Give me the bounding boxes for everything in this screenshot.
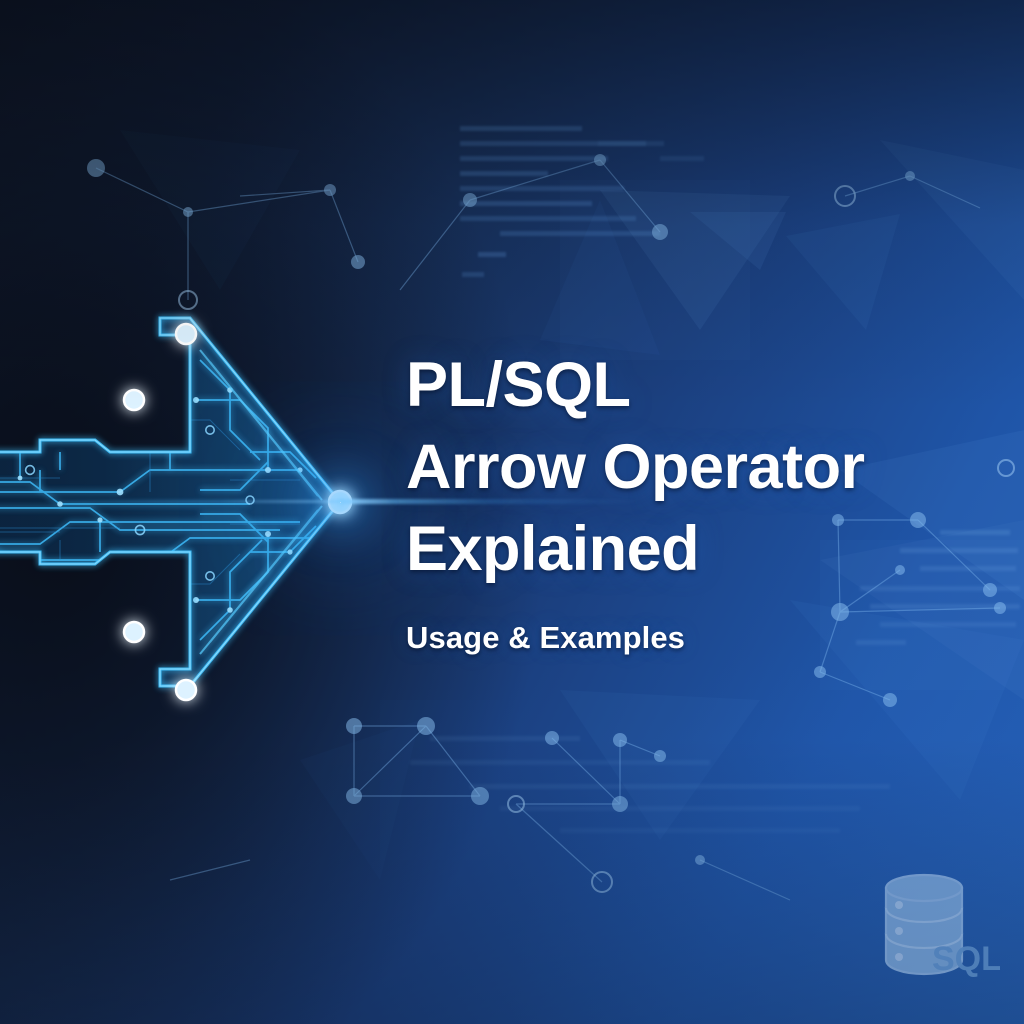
page-title-line-3: Explained bbox=[406, 508, 986, 590]
sql-logo: SQL bbox=[876, 868, 1000, 992]
page-title-line-2: Arrow Operator bbox=[406, 426, 986, 508]
database-cylinder-icon: SQL bbox=[876, 868, 1000, 992]
page-title-line-1: PL/SQL bbox=[406, 344, 986, 426]
title-block: PL/SQL Arrow Operator Explained Usage & … bbox=[406, 344, 986, 656]
sql-logo-text: SQL bbox=[932, 940, 1000, 978]
page-subtitle: Usage & Examples bbox=[406, 620, 986, 656]
poster-canvas: PL/SQL Arrow Operator Explained Usage & … bbox=[0, 0, 1024, 1024]
